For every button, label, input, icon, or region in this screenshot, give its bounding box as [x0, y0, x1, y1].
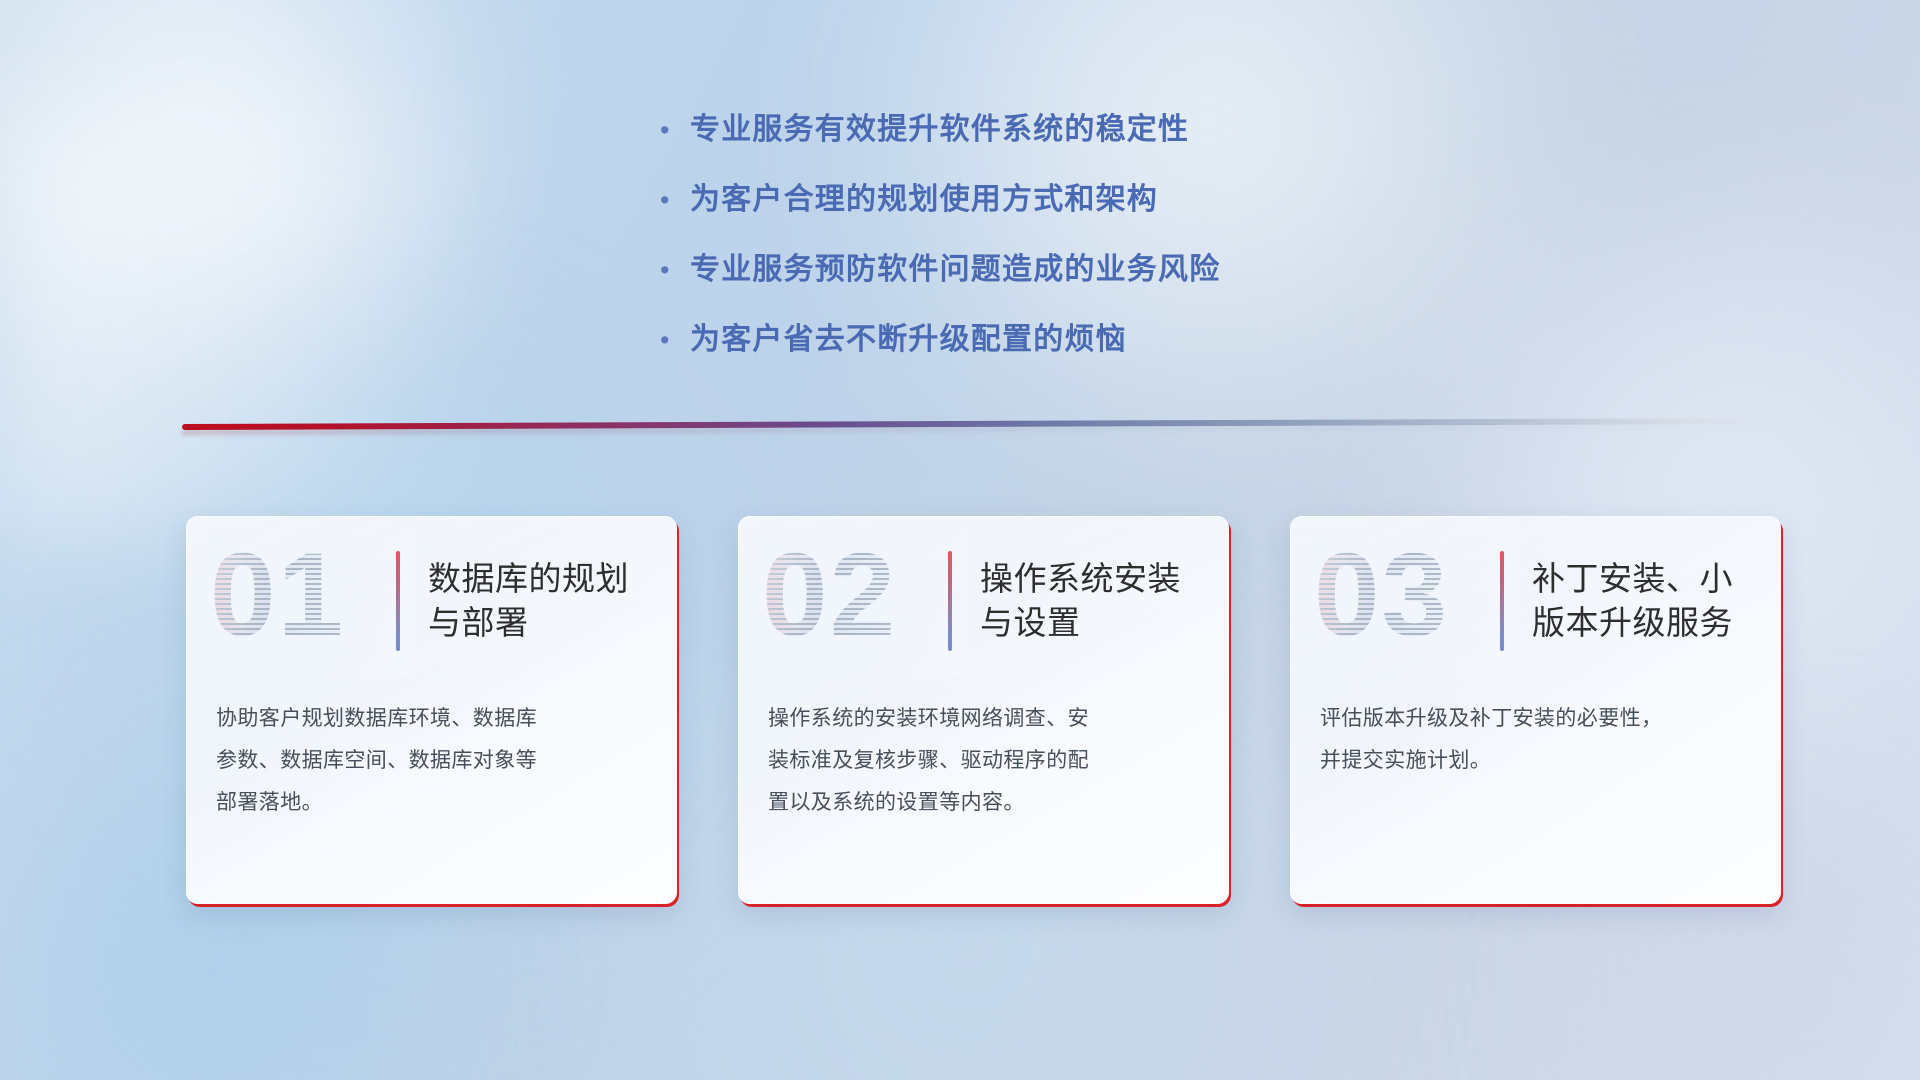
service-card-03[interactable]: 03 补丁安装、小 版本升级服务 评估版本升级及补丁安装的必要性， 并提交实施计… [1290, 516, 1781, 904]
card-number-wrap: 02 [762, 536, 948, 666]
bullet-dot-icon: • [660, 320, 690, 360]
bullet-text: 为客户省去不断升级配置的烦恼 [690, 320, 1127, 360]
bullet-text: 专业服务预防软件问题造成的业务风险 [690, 250, 1220, 290]
service-card-group: 01 数据库的规划 与部署 协助客户规划数据库环境、数据库 参数、数据库空间、数… [0, 516, 1920, 916]
card-title: 操作系统安装 与设置 [952, 557, 1229, 645]
background-light-streak [0, 120, 760, 540]
bullet-text: 为客户合理的规划使用方式和架构 [690, 180, 1158, 220]
bullet-dot-icon: • [660, 250, 690, 290]
card-title-line: 操作系统安装 [980, 557, 1211, 601]
card-number: 01 [210, 530, 345, 660]
card-title: 补丁安装、小 版本升级服务 [1504, 557, 1781, 645]
card-header: 03 补丁安装、小 版本升级服务 [1290, 526, 1781, 676]
card-title-line: 版本升级服务 [1532, 601, 1763, 645]
list-item: • 专业服务有效提升软件系统的稳定性 [660, 110, 1420, 150]
card-number: 02 [762, 530, 897, 660]
benefits-bullet-list: • 专业服务有效提升软件系统的稳定性 • 为客户合理的规划使用方式和架构 • 专… [660, 110, 1420, 390]
list-item: • 为客户合理的规划使用方式和架构 [660, 180, 1420, 220]
card-number-wrap: 03 [1314, 536, 1500, 666]
card-title-line: 与部署 [428, 601, 659, 645]
card-title-line: 补丁安装、小 [1532, 557, 1763, 601]
card-header: 02 操作系统安装 与设置 [738, 526, 1229, 676]
card-body-text: 操作系统的安装环境网络调查、安 装标准及复核步骤、驱动程序的配 置以及系统的设置… [768, 698, 1200, 824]
card-body-line: 并提交实施计划。 [1320, 740, 1752, 782]
card-header: 01 数据库的规划 与部署 [186, 526, 677, 676]
card-body-line: 操作系统的安装环境网络调查、安 [768, 698, 1200, 740]
bullet-text: 专业服务有效提升软件系统的稳定性 [690, 110, 1189, 150]
section-divider [182, 424, 1762, 435]
card-title-line: 与设置 [980, 601, 1211, 645]
service-card-02[interactable]: 02 操作系统安装 与设置 操作系统的安装环境网络调查、安 装标准及复核步骤、驱… [738, 516, 1229, 904]
list-item: • 为客户省去不断升级配置的烦恼 [660, 320, 1420, 360]
card-body-line: 协助客户规划数据库环境、数据库 [216, 698, 648, 740]
card-body-text: 协助客户规划数据库环境、数据库 参数、数据库空间、数据库对象等 部署落地。 [216, 698, 648, 824]
card-title-line: 数据库的规划 [428, 557, 659, 601]
card-body-line: 参数、数据库空间、数据库对象等 [216, 740, 648, 782]
card-body-line: 部署落地。 [216, 782, 648, 824]
service-card-01[interactable]: 01 数据库的规划 与部署 协助客户规划数据库环境、数据库 参数、数据库空间、数… [186, 516, 677, 904]
card-title: 数据库的规划 与部署 [400, 557, 677, 645]
card-body-text: 评估版本升级及补丁安装的必要性， 并提交实施计划。 [1320, 698, 1752, 782]
card-number-wrap: 01 [210, 536, 396, 666]
card-number: 03 [1314, 530, 1449, 660]
card-body-line: 置以及系统的设置等内容。 [768, 782, 1200, 824]
bullet-dot-icon: • [660, 180, 690, 220]
list-item: • 专业服务预防软件问题造成的业务风险 [660, 250, 1420, 290]
card-body-line: 装标准及复核步骤、驱动程序的配 [768, 740, 1200, 782]
card-body-line: 评估版本升级及补丁安装的必要性， [1320, 698, 1752, 740]
bullet-dot-icon: • [660, 110, 690, 150]
